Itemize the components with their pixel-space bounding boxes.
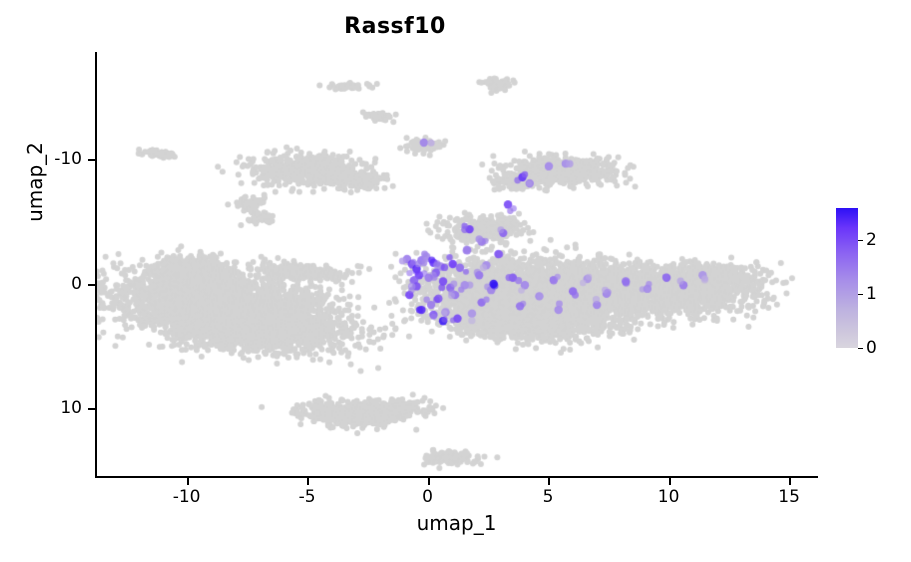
x-tick-label: 15 [778,487,800,507]
x-tick-mark [428,478,430,485]
x-axis-label: umap_1 [95,511,818,535]
scatter-canvas [97,52,818,476]
colorbar-tick-label: 0 [866,338,877,358]
colorbar-tick-mark [858,240,863,241]
y-tick-label: 10 [60,398,82,418]
y-tick-mark [88,284,95,286]
y-tick-mark [88,408,95,410]
colorbar-tick-label: 1 [866,284,877,304]
y-tick-label: -10 [54,149,82,169]
y-tick-mark [88,159,95,161]
colorbar-gradient [836,208,858,348]
x-tick-mark [548,478,550,485]
x-tick-label: 0 [422,487,433,507]
umap-feature-plot-figure: Rassf10 -10-5051015 100-10 umap_1 umap_2… [0,0,911,562]
plot-title: Rassf10 [0,14,790,39]
x-tick-mark [669,478,671,485]
x-tick-mark [789,478,791,485]
x-tick-label: 10 [658,487,680,507]
x-tick-mark [187,478,189,485]
y-tick-label: 0 [71,274,82,294]
x-tick-mark [307,478,309,485]
y-axis-label: umap_2 [23,87,47,277]
x-tick-label: -10 [173,487,201,507]
colorbar-tick-label: 2 [866,230,877,250]
colorbar-tick-mark [858,348,863,349]
colorbar-tick-mark [858,294,863,295]
x-tick-label: -5 [299,487,316,507]
x-tick-label: 5 [543,487,554,507]
plot-axes [95,52,818,478]
